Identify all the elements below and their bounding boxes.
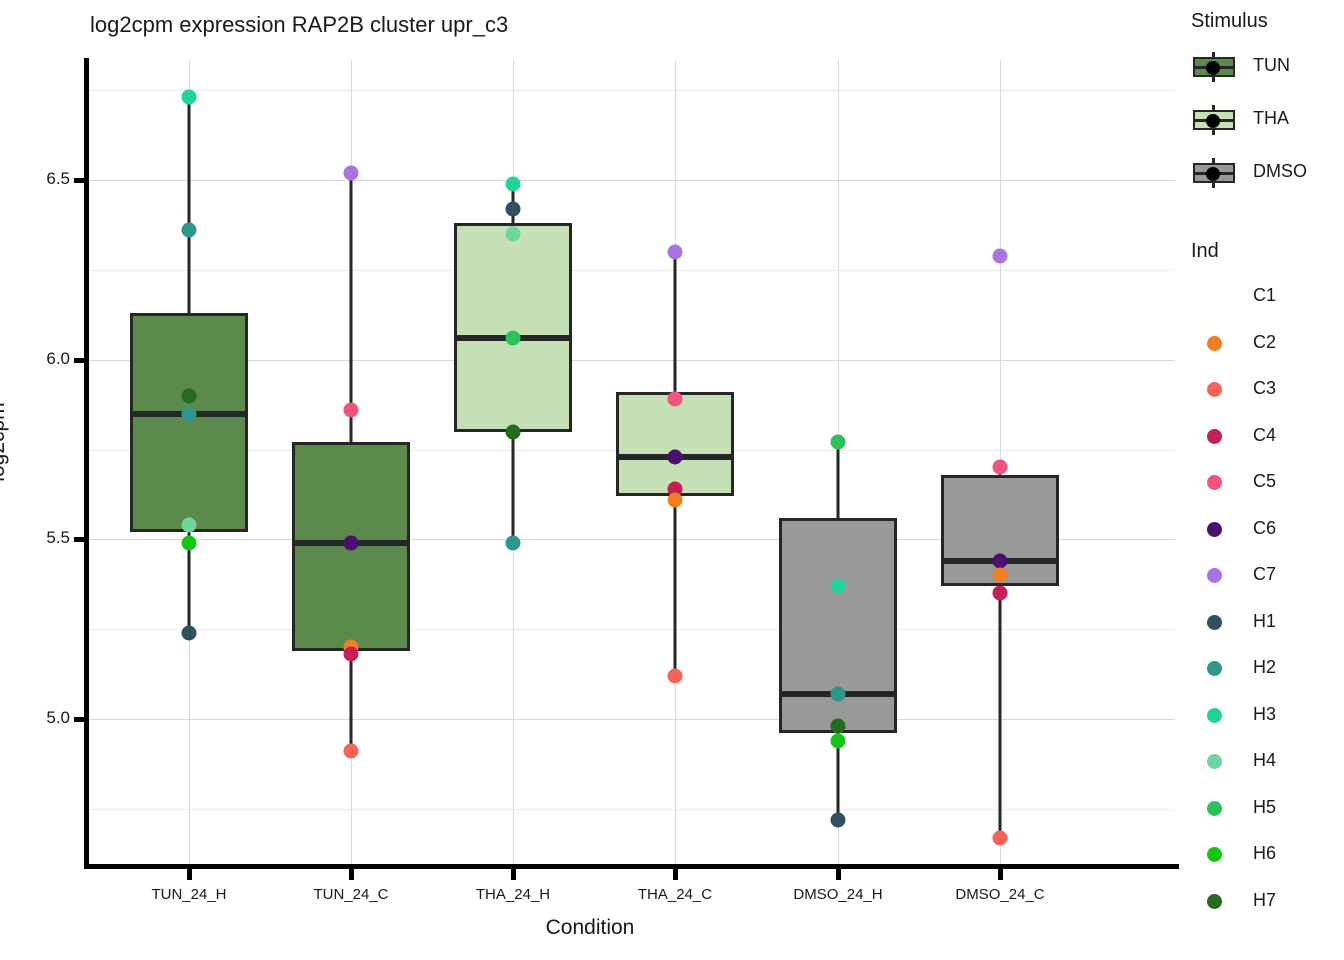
legend-item-label: H5 [1253,797,1276,818]
legend-item-ind-c2[interactable]: C2 [1185,327,1344,361]
legend-item-label: TUN [1253,55,1290,76]
data-point-h4[interactable] [182,517,197,532]
legend-item-label: H4 [1253,750,1276,771]
y-tick-mark [74,537,85,542]
data-point-h7[interactable] [831,719,846,734]
legend-color-dot [1207,568,1222,583]
data-point-c3[interactable] [344,744,359,759]
y-tick-mark [74,717,85,722]
data-point-h6[interactable] [182,535,197,550]
data-point-h5[interactable] [831,435,846,450]
x-tick-label: DMSO_24_C [955,886,1044,903]
data-point-h3[interactable] [182,90,197,105]
legend-item-ind-h4[interactable]: H4 [1185,745,1344,779]
data-point-c3[interactable] [993,830,1008,845]
legend-item-ind-c3[interactable]: C3 [1185,373,1344,407]
legend-color-dot [1207,429,1222,444]
legend-title-stimulus: Stimulus [1191,10,1268,33]
x-tick-label: THA_24_H [476,886,550,903]
legend-item-label: DMSO [1253,161,1307,182]
data-point-h2[interactable] [506,535,521,550]
legend-color-dot [1207,289,1222,304]
data-point-h7[interactable] [506,424,521,439]
legend-color-dot [1207,847,1222,862]
legend-item-ind-h3[interactable]: H3 [1185,699,1344,733]
y-tick-label: 6.0 [46,349,70,369]
legend-item-label: H3 [1253,704,1276,725]
legend-item-label: C2 [1253,332,1276,353]
data-point-c5[interactable] [344,403,359,418]
y-tick-mark [74,178,85,183]
y-tick-mark [74,358,85,363]
plot-panel [88,60,1175,866]
data-point-h1[interactable] [831,812,846,827]
x-axis-title: Condition [0,916,1180,940]
x-tick-mark [998,869,1003,880]
legend-item-stimulus-tha[interactable]: THA [1185,103,1344,137]
legend-item-label: C3 [1253,378,1276,399]
legend-title-ind: Ind [1191,240,1219,263]
legend-item-label: H2 [1253,657,1276,678]
data-point-h2[interactable] [831,686,846,701]
legend-item-label: C5 [1253,471,1276,492]
legend-color-dot [1207,615,1222,630]
legend-item-ind-h2[interactable]: H2 [1185,652,1344,686]
data-point-c4[interactable] [993,586,1008,601]
y-tick-label: 5.0 [46,708,70,728]
data-point-c3[interactable] [668,668,683,683]
legend-item-ind-h7[interactable]: H7 [1185,885,1344,919]
data-point-c7[interactable] [344,165,359,180]
legend-color-dot [1207,708,1222,723]
legend-item-label: THA [1253,108,1289,129]
legend-color-dot [1207,382,1222,397]
data-point-c1[interactable] [668,374,683,389]
y-tick-label: 6.5 [46,169,70,189]
data-point-c6[interactable] [993,553,1008,568]
chart-root: log2cpm expression RAP2B cluster upr_c3 … [0,0,1344,960]
x-tick-label: TUN_24_H [151,886,226,903]
legend-point-dot [1206,167,1220,181]
x-tick-label: TUN_24_C [313,886,388,903]
data-point-c6[interactable] [344,535,359,550]
legend-color-dot [1207,661,1222,676]
legend-item-ind-c1[interactable]: C1 [1185,280,1344,314]
data-point-c1[interactable] [344,467,359,482]
legend-color-dot [1207,754,1222,769]
legend-color-dot [1207,475,1222,490]
data-point-c1[interactable] [993,471,1008,486]
legend-box-key [1191,52,1237,82]
data-point-c7[interactable] [668,244,683,259]
data-point-h4[interactable] [506,226,521,241]
legend-color-dot [1207,336,1222,351]
legend-item-ind-h1[interactable]: H1 [1185,606,1344,640]
data-point-c4[interactable] [344,647,359,662]
page-title: log2cpm expression RAP2B cluster upr_c3 [90,12,508,38]
data-point-h6[interactable] [831,733,846,748]
x-tick-mark [673,869,678,880]
x-tick-label: THA_24_C [638,886,712,903]
legend-item-label: C6 [1253,518,1276,539]
data-point-c2[interactable] [668,492,683,507]
legend-item-ind-c4[interactable]: C4 [1185,420,1344,454]
data-point-c6[interactable] [668,449,683,464]
legend-color-dot [1207,801,1222,816]
data-point-c2[interactable] [993,568,1008,583]
legend-item-ind-c6[interactable]: C6 [1185,513,1344,547]
legend-point-dot [1206,114,1220,128]
legend-item-label: C4 [1253,425,1276,446]
legend-color-dot [1207,522,1222,537]
legend-item-label: C1 [1253,285,1276,306]
x-axis-line [84,864,1179,869]
y-axis-title: log2cpm [0,402,10,481]
data-point-h7[interactable] [182,388,197,403]
data-point-h2[interactable] [182,406,197,421]
legend-box-key [1191,158,1237,188]
legend-color-dot [1207,894,1222,909]
y-tick-label: 5.5 [46,528,70,548]
legend-item-label: H6 [1253,843,1276,864]
whisker-lower [999,586,1002,838]
x-tick-mark [187,869,192,880]
x-tick-mark [511,869,516,880]
legend-area: Stimulus TUNTHADMSO Ind C1C2C3C4C5C6C7H1… [1185,0,1344,960]
x-tick-mark [836,869,841,880]
data-point-h3[interactable] [831,579,846,594]
legend-item-ind-c7[interactable]: C7 [1185,559,1344,593]
x-tick-mark [349,869,354,880]
data-point-h1[interactable] [506,201,521,216]
legend-item-ind-h5[interactable]: H5 [1185,792,1344,826]
data-point-h1[interactable] [182,625,197,640]
legend-item-label: C7 [1253,564,1276,585]
data-point-h2[interactable] [182,223,197,238]
data-point-h5[interactable] [506,331,521,346]
legend-box-key [1191,105,1237,135]
legend-item-ind-h6[interactable]: H6 [1185,838,1344,872]
legend-point-dot [1206,61,1220,75]
data-point-h3[interactable] [506,176,521,191]
x-tick-label: DMSO_24_H [793,886,882,903]
boxplot-dmso_24_c[interactable] [88,60,1175,866]
legend-item-label: H7 [1253,890,1276,911]
legend-item-stimulus-tun[interactable]: TUN [1185,50,1344,84]
legend-item-ind-c5[interactable]: C5 [1185,466,1344,500]
data-point-c7[interactable] [993,248,1008,263]
data-point-c5[interactable] [668,392,683,407]
legend-item-label: H1 [1253,611,1276,632]
legend-item-stimulus-dmso[interactable]: DMSO [1185,156,1344,190]
